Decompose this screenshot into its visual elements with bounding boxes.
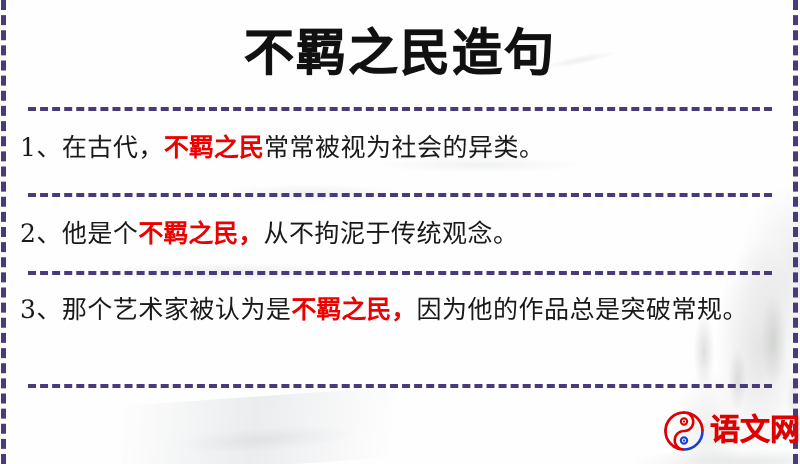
site-logo-text: 语文网 [710, 414, 800, 448]
sentence-text-before: 在古代， [62, 133, 164, 162]
sentence-page: 不羁之民造句 1、在古代，不羁之民常常被视为社会的异类。 2、他是个不羁之民，从… [0, 0, 800, 464]
dashed-divider [28, 384, 772, 388]
site-logo[interactable]: 语文网 [664, 411, 800, 451]
sentence-text-after: 因为他的作品总是突破常规。 [416, 295, 748, 324]
example-sentence-1: 1、在古代，不羁之民常常被视为社会的异类。 [20, 126, 772, 170]
sentence-text-after: 常常被视为社会的异类。 [264, 133, 545, 162]
example-sentence-2: 2、他是个不羁之民，从不拘泥于传统观念。 [20, 212, 772, 256]
keyword-highlight: 不羁之民， [138, 219, 263, 248]
sentence-index: 3、 [20, 295, 62, 324]
sentence-index: 1、 [20, 133, 62, 162]
keyword-highlight: 不羁之民， [291, 295, 416, 324]
sentence-text-before: 那个艺术家被认为是 [62, 295, 292, 324]
sentence-text-after: 从不拘泥于传统观念。 [263, 219, 518, 248]
example-sentence-3: 3、那个艺术家被认为是不羁之民，因为他的作品总是突破常规。 [20, 288, 772, 332]
ink-wash-boat-watermark [118, 384, 442, 464]
page-title: 不羁之民造句 [0, 20, 800, 86]
sentence-index: 2、 [20, 219, 62, 248]
sentence-text-before: 他是个 [62, 219, 139, 248]
dashed-divider [28, 193, 772, 197]
taiji-circle-icon [664, 411, 704, 451]
keyword-highlight: 不羁之民 [164, 133, 264, 162]
dashed-divider [28, 271, 772, 275]
dashed-divider [28, 107, 772, 111]
